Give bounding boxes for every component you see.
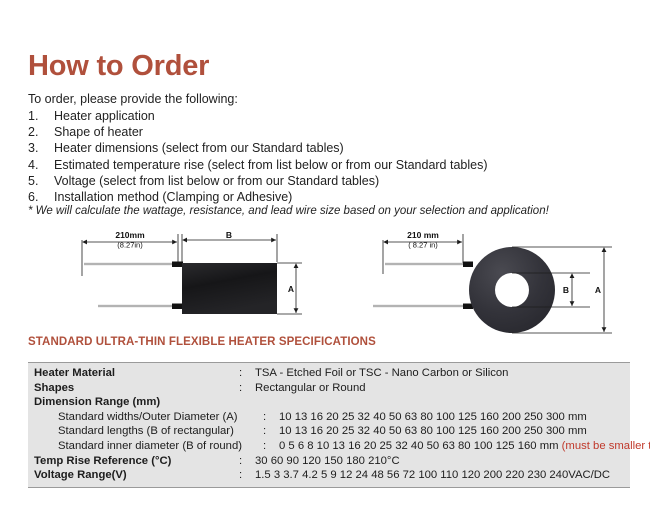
- row-value-note: (must be smaller than A): [562, 440, 650, 452]
- list-item: 6. Installation method (Clamping or Adhe…: [28, 189, 588, 205]
- row-label: Standard lengths (B of rectangular): [34, 424, 263, 439]
- list-item-number: 5.: [28, 173, 54, 189]
- row-value: TSA - Etched Foil or TSC - Nano Carbon o…: [255, 366, 630, 381]
- row-value: 10 13 16 20 25 32 40 50 63 80 100 125 16…: [279, 424, 630, 439]
- list-item-number: 4.: [28, 157, 54, 173]
- list-item: 4. Estimated temperature rise (select fr…: [28, 157, 588, 173]
- table-row: Dimension Range (mm): [28, 395, 630, 410]
- list-item: 5. Voltage (select from list below or fr…: [28, 173, 588, 189]
- row-label: Shapes: [34, 381, 239, 396]
- list-item: 3. Heater dimensions (select from our St…: [28, 140, 588, 156]
- list-item-label: Shape of heater: [54, 124, 588, 140]
- row-label: Heater Material: [34, 366, 239, 381]
- table-row: Standard inner diameter (B of round) : 0…: [28, 439, 630, 454]
- list-item: 2. Shape of heater: [28, 124, 588, 140]
- round-outer-label: A: [595, 285, 601, 295]
- rect-lead-length-in: (8.27in): [117, 241, 143, 250]
- list-item-label: Heater application: [54, 108, 588, 124]
- row-colon: :: [263, 439, 279, 454]
- list-item-number: 6.: [28, 189, 54, 205]
- rect-lead-length-mm: 210mm: [115, 230, 145, 240]
- row-colon: :: [239, 381, 255, 396]
- rect-height-label: A: [288, 284, 294, 294]
- calculation-note: * We will calculate the wattage, resista…: [28, 205, 549, 217]
- table-row: Temp Rise Reference (°C) : 30 60 90 120 …: [28, 454, 630, 469]
- row-value: 30 60 90 120 150 180 210°C: [255, 454, 630, 469]
- row-value: 10 13 16 20 25 32 40 50 63 80 100 125 16…: [279, 410, 630, 425]
- round-inner-label: B: [563, 285, 569, 295]
- intro-text: To order, please provide the following:: [28, 92, 238, 106]
- row-label: Voltage Range(V): [34, 468, 239, 483]
- page-title: How to Order: [28, 52, 209, 81]
- row-value: Rectangular or Round: [255, 381, 630, 396]
- row-colon: :: [263, 410, 279, 425]
- spec-table: Heater Material : TSA - Etched Foil or T…: [28, 362, 630, 488]
- table-row: Shapes : Rectangular or Round: [28, 381, 630, 396]
- row-label: Standard inner diameter (B of round): [34, 439, 263, 454]
- rect-width-label: B: [226, 230, 232, 240]
- table-row: Voltage Range(V) : 1.5 3 3.7 4.2 5 9 12 …: [28, 468, 630, 483]
- row-value: 1.5 3 3.7 4.2 5 9 12 24 48 56 72 100 110…: [255, 468, 630, 483]
- list-item-label: Voltage (select from list below or from …: [54, 173, 588, 189]
- list-item-label: Estimated temperature rise (select from …: [54, 157, 588, 173]
- row-colon: :: [239, 454, 255, 469]
- spec-table-title: STANDARD ULTRA-THIN FLEXIBLE HEATER SPEC…: [28, 336, 376, 348]
- order-requirements-list: 1. Heater application 2. Shape of heater…: [28, 108, 588, 205]
- round-heater-diagram: 210 mm ( 8.27 in) B A: [373, 230, 612, 333]
- row-colon: :: [239, 468, 255, 483]
- table-row: Standard widths/Outer Diameter (A) : 10 …: [28, 410, 630, 425]
- list-item-label: Installation method (Clamping or Adhesiv…: [54, 189, 588, 205]
- row-colon: :: [239, 366, 255, 381]
- table-row: Heater Material : TSA - Etched Foil or T…: [28, 366, 630, 381]
- list-item-number: 3.: [28, 140, 54, 156]
- row-value: 0 5 6 8 10 13 16 20 25 32 40 50 63 80 10…: [279, 440, 559, 452]
- rectangular-heater-diagram: 210mm (8.27in) B A: [82, 230, 302, 314]
- list-item: 1. Heater application: [28, 108, 588, 124]
- row-colon: :: [263, 424, 279, 439]
- round-lead-length-mm: 210 mm: [407, 230, 439, 240]
- heater-diagrams: 210mm (8.27in) B A: [0, 228, 650, 336]
- row-label: Standard widths/Outer Diameter (A): [34, 410, 263, 425]
- round-lead-length-in: ( 8.27 in): [408, 241, 438, 250]
- list-item-number: 1.: [28, 108, 54, 124]
- list-item-number: 2.: [28, 124, 54, 140]
- row-label: Dimension Range (mm): [34, 395, 160, 410]
- table-row: Standard lengths (B of rectangular) : 10…: [28, 424, 630, 439]
- list-item-label: Heater dimensions (select from our Stand…: [54, 140, 588, 156]
- row-label: Temp Rise Reference (°C): [34, 454, 239, 469]
